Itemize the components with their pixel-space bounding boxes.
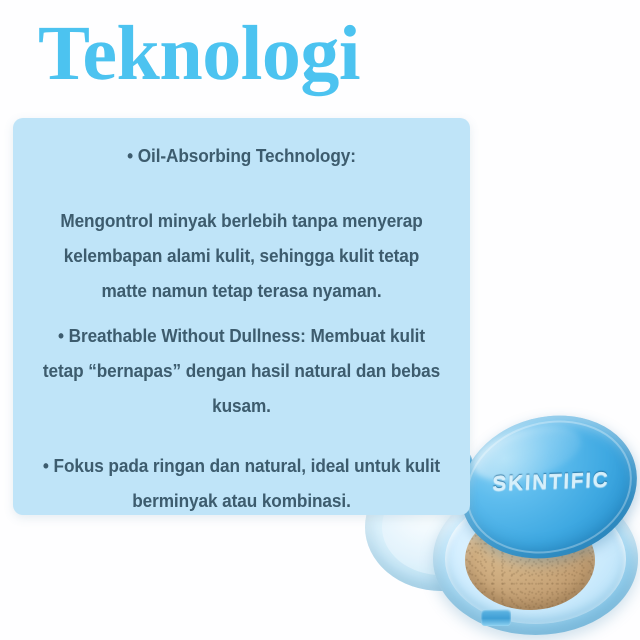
- bullet-focus-lightweight-natural: • Fokus pada ringan dan natural, ideal u…: [42, 448, 441, 515]
- bullet-breathable-without-dullness: • Breathable Without Dullness: Membuat k…: [42, 318, 441, 423]
- bullet-oil-absorbing-heading: • Oil-Absorbing Technology:: [42, 138, 441, 173]
- poster-canvas: Teknologi • Oil-Absorbing Technology: Me…: [0, 0, 640, 640]
- page-title: Teknologi: [38, 8, 458, 98]
- info-card: • Oil-Absorbing Technology: Mengontrol m…: [13, 118, 470, 515]
- paragraph-oil-control-description: Mengontrol minyak berlebih tanpa menyera…: [42, 203, 441, 308]
- compact-latch: [481, 609, 511, 626]
